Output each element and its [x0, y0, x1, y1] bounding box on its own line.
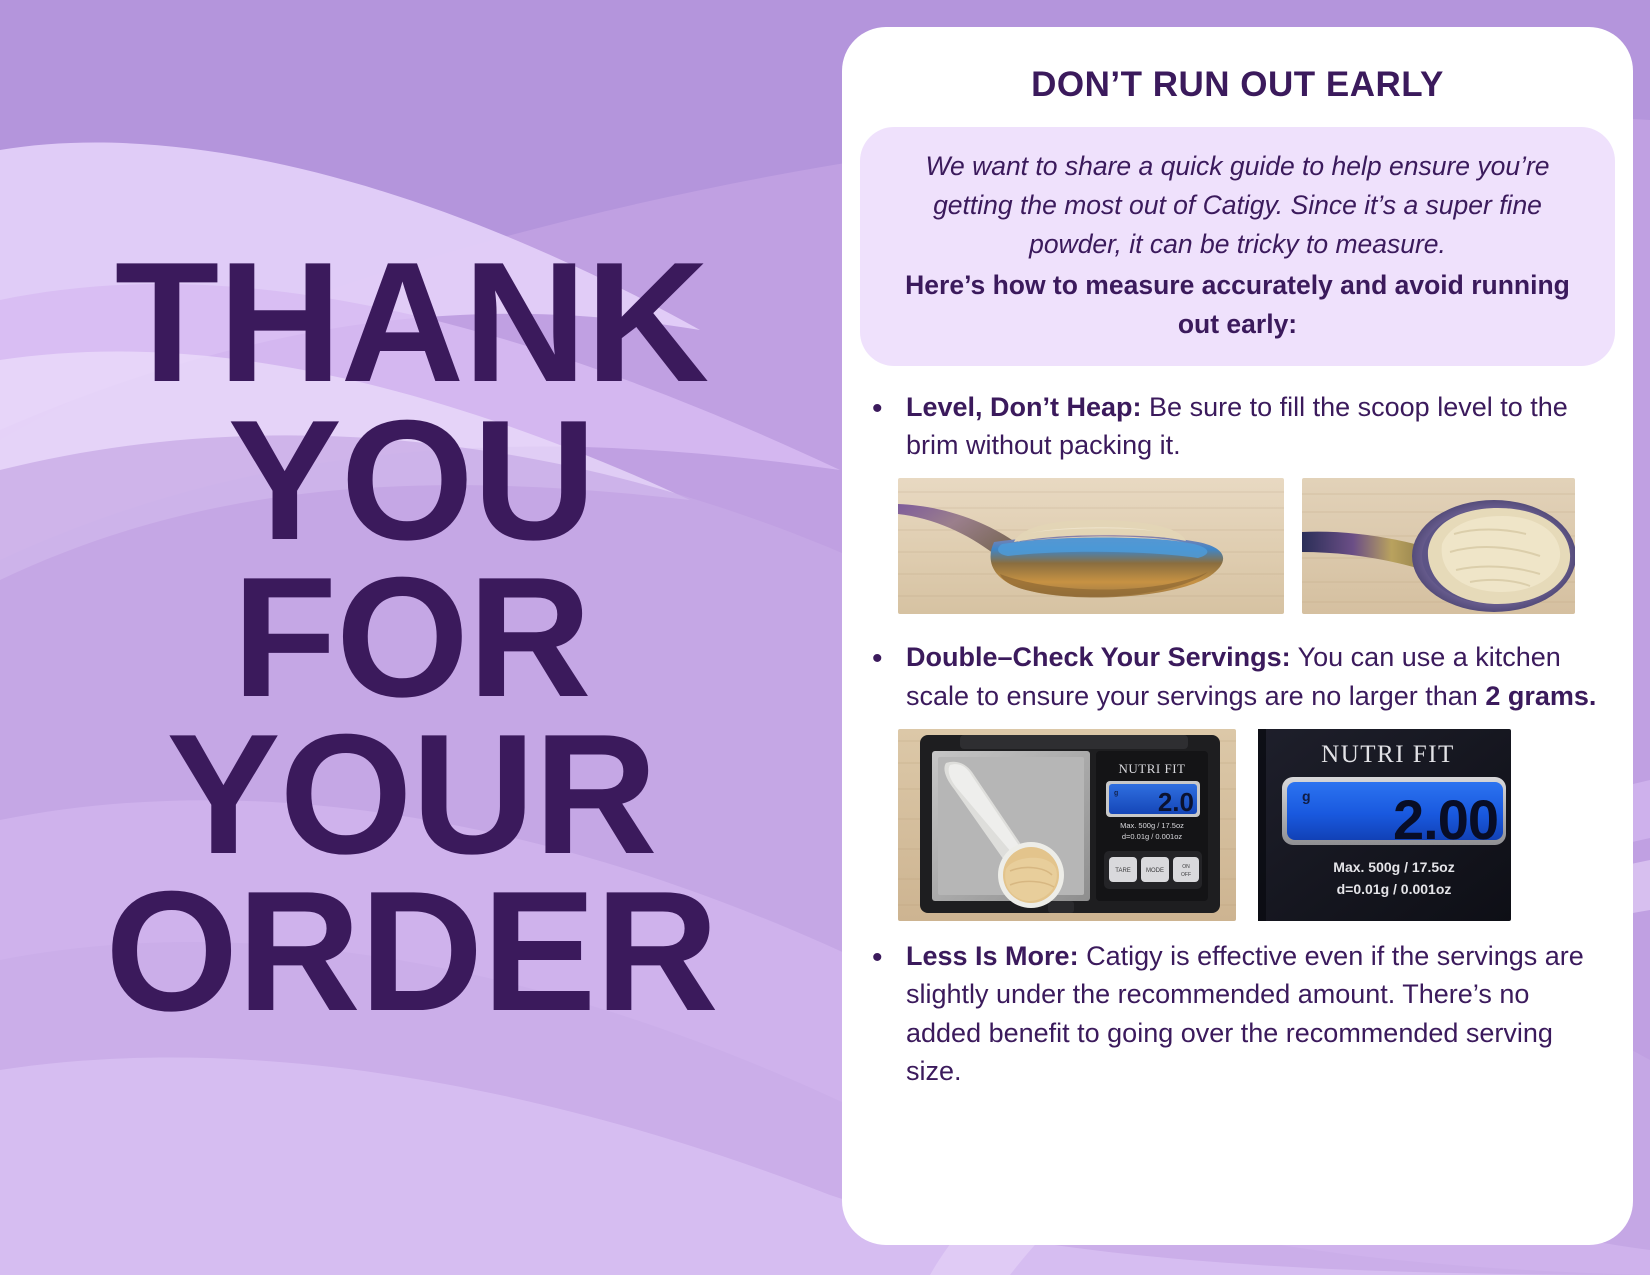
bullet-text: Level, Don’t Heap: Be sure to fill the s… [906, 388, 1611, 465]
svg-text:NUTRI FIT: NUTRI FIT [1321, 741, 1455, 768]
intro-callout-box: We want to share a quick guide to help e… [860, 127, 1615, 366]
intro-italic-text: We want to share a quick guide to help e… [925, 151, 1549, 259]
svg-text:d=0.01g / 0.001oz: d=0.01g / 0.001oz [1337, 881, 1452, 897]
svg-text:d=0.01g / 0.001oz: d=0.01g / 0.001oz [1122, 832, 1183, 841]
svg-text:OFF: OFF [1181, 872, 1191, 878]
bullet-label: Level, Don’t Heap: [906, 392, 1142, 422]
measuring-guide-card: DON’T RUN OUT EARLY We want to share a q… [842, 27, 1633, 1245]
svg-text:ON: ON [1182, 864, 1190, 870]
bullet-label: Less Is More: [906, 941, 1079, 971]
kitchen-scale-display-closeup-photo: NUTRI FIT g 2.00 Max. 500g / 17.5oz d=0.… [1254, 729, 1511, 921]
svg-text:2.00: 2.00 [1393, 788, 1498, 851]
bullet-marker-icon: • [868, 937, 906, 1090]
thank-you-panel: THANK YOU FOR YOUR ORDER [0, 0, 845, 1275]
bullet-marker-icon: • [868, 638, 906, 715]
kitchen-scale-with-scoop-photo: NUTRI FIT g 2.0 Max. 500g / 17.5oz d=0.0… [898, 729, 1236, 921]
svg-text:TARE: TARE [1115, 868, 1131, 874]
card-title: DON’T RUN OUT EARLY [842, 27, 1633, 105]
bullet-level-dont-heap: • Level, Don’t Heap: Be sure to fill the… [842, 388, 1633, 465]
scale-photo-row: NUTRI FIT g 2.0 Max. 500g / 17.5oz d=0.0… [842, 729, 1633, 921]
svg-text:g: g [1114, 790, 1118, 797]
bullet-text: Double–Check Your Servings: You can use … [906, 638, 1611, 715]
intro-bold-text: Here’s how to measure accurately and avo… [886, 266, 1589, 344]
svg-text:Max. 500g / 17.5oz: Max. 500g / 17.5oz [1120, 821, 1184, 830]
bullet-double-check-servings: • Double–Check Your Servings: You can us… [842, 638, 1633, 715]
bullet-emphasis: 2 grams. [1485, 681, 1596, 711]
spoon-top-view-photo [1302, 478, 1575, 614]
spoon-side-view-photo [898, 478, 1284, 614]
bullet-marker-icon: • [868, 388, 906, 465]
svg-text:Max. 500g / 17.5oz: Max. 500g / 17.5oz [1333, 859, 1454, 875]
bullet-label: Double–Check Your Servings: [906, 642, 1291, 672]
svg-text:MODE: MODE [1146, 868, 1164, 874]
svg-text:NUTRI FIT: NUTRI FIT [1119, 761, 1186, 776]
page-title: THANK YOU FOR YOUR ORDER [105, 244, 740, 1031]
svg-text:2.0: 2.0 [1158, 787, 1194, 817]
svg-text:g: g [1302, 788, 1311, 804]
bullet-less-is-more: • Less Is More: Catigy is effective even… [842, 937, 1633, 1090]
bullet-text: Less Is More: Catigy is effective even i… [906, 937, 1611, 1090]
spoon-photo-row [842, 478, 1633, 614]
